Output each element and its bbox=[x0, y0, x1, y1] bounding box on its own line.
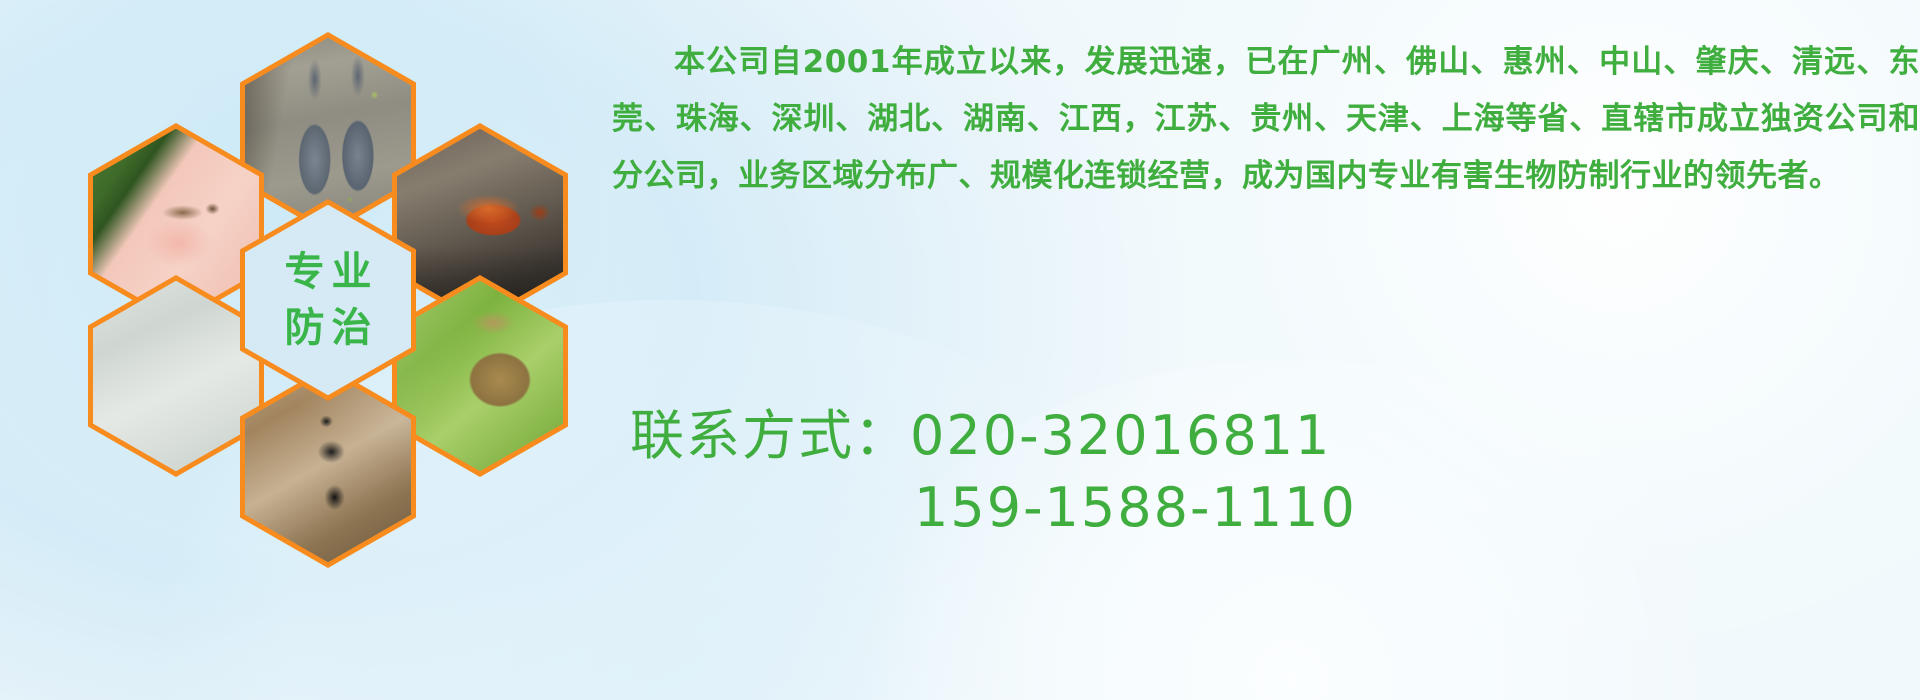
stinkbug-photo bbox=[397, 281, 563, 471]
logo-slogan-line-2: 防治 bbox=[278, 303, 379, 353]
contact-block: 联系方式：020-32016811 159-1588-1110 bbox=[612, 400, 1920, 544]
hex-photo-flies bbox=[88, 275, 264, 477]
honeycomb-photo-cluster: 专业 防治 bbox=[88, 10, 588, 570]
hex-photo-stinkbug-inner bbox=[397, 281, 563, 471]
logo-slogan: 专业 防治 bbox=[245, 205, 411, 395]
hex-logo-center-inner: 专业 防治 bbox=[245, 205, 411, 395]
hex-photo-flies-inner bbox=[93, 281, 259, 471]
contact-phone-landline[interactable]: 联系方式：020-32016811 bbox=[612, 400, 1920, 472]
logo-slogan-line-1: 专业 bbox=[278, 247, 379, 297]
banner-copy: 本公司自2001年成立以来，发展迅速，已在广州、佛山、惠州、中山、肇庆、清远、东… bbox=[612, 0, 1920, 700]
flies-photo bbox=[93, 281, 259, 471]
hex-logo-center: 专业 防治 bbox=[240, 199, 416, 401]
hex-photo-stinkbug bbox=[392, 275, 568, 477]
contact-phone-mobile[interactable]: 159-1588-1110 bbox=[612, 472, 1920, 544]
company-intro-paragraph: 本公司自2001年成立以来，发展迅速，已在广州、佛山、惠州、中山、肇庆、清远、东… bbox=[612, 34, 1920, 205]
pest-control-banner: 专业 防治 本公司自2001年成立以来，发展迅速，已在广州、佛山、惠州、中山、肇… bbox=[0, 0, 1920, 700]
